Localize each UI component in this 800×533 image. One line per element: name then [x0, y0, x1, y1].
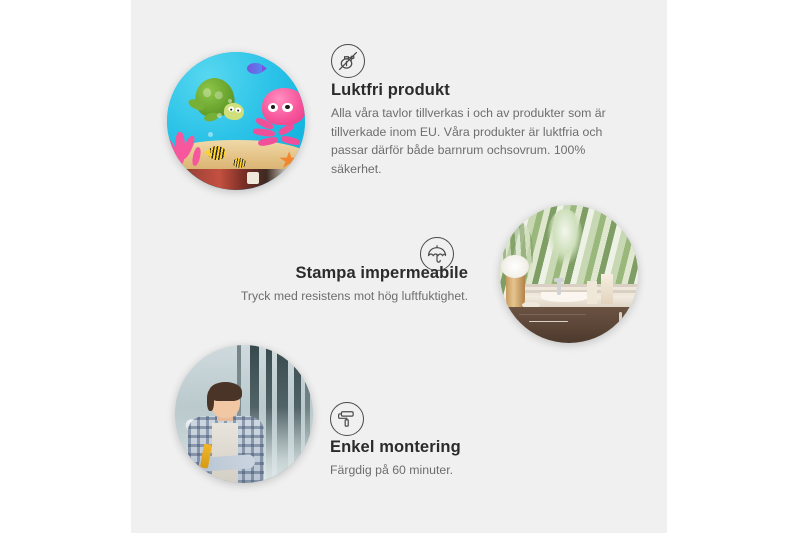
feature-heading: Luktfri produkt — [331, 81, 619, 100]
paint-roller-icon — [330, 402, 364, 436]
feature-text-enkel-montering: Enkel montering Färgdig på 60 minuter. — [330, 438, 600, 480]
no-odor-icon — [331, 44, 365, 78]
feature-body: Tryck med resistens mot hög luftfuktighe… — [196, 287, 468, 306]
feature-image-underwater-mural — [167, 52, 305, 190]
feature-heading: Stampa impermeabile — [196, 264, 468, 283]
feature-image-woman-paint-roller — [175, 345, 313, 483]
feature-text-stampa-impermeabile: Stampa impermeabile Tryck med resistens … — [196, 264, 468, 306]
product-feature-infographic: Luktfri produkt Alla våra tavlor tillver… — [0, 0, 800, 533]
feature-body: Färgdig på 60 minuter. — [330, 461, 600, 480]
feature-image-bathroom-vanity — [500, 205, 638, 343]
feature-body: Alla våra tavlor tillverkas i och av pro… — [331, 104, 619, 179]
feature-text-luktfri-produkt: Luktfri produkt Alla våra tavlor tillver… — [331, 81, 619, 179]
feature-heading: Enkel montering — [330, 438, 600, 457]
